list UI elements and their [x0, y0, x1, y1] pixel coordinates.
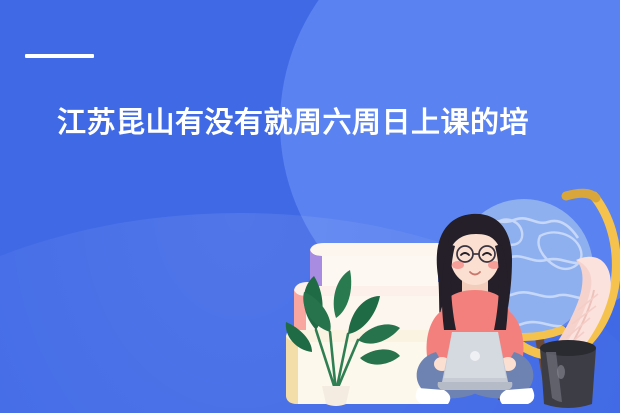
article-cover-banner: 江苏昆山有没有就周六周日上课的培: [0, 0, 620, 413]
illustration-student-studying: [0, 0, 620, 413]
